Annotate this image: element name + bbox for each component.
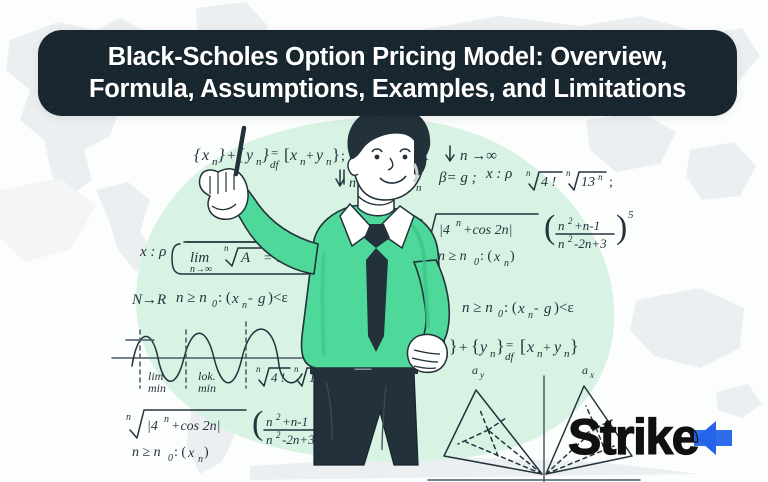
brand-logo[interactable]: Strike Strike Strike bbox=[566, 406, 746, 468]
svg-text:2: 2 bbox=[276, 430, 281, 440]
svg-text:n: n bbox=[224, 243, 229, 253]
svg-text:x : ρ: x : ρ bbox=[139, 244, 166, 260]
page-title-line-2: Formula, Assumptions, Examples, and Limi… bbox=[89, 75, 686, 103]
svg-text:}: } bbox=[332, 145, 340, 164]
svg-text:g: g bbox=[544, 301, 552, 317]
svg-text:=: = bbox=[506, 337, 513, 352]
svg-text:-: - bbox=[534, 301, 539, 316]
svg-text:n ≥ n: n ≥ n bbox=[462, 300, 493, 316]
svg-text:+n-1: +n-1 bbox=[574, 218, 600, 233]
svg-text:n: n bbox=[266, 414, 273, 429]
svg-text:4 !: 4 ! bbox=[271, 370, 285, 385]
svg-text:4 !: 4 ! bbox=[541, 175, 557, 190]
svg-text:0: 0 bbox=[474, 257, 479, 268]
svg-text:5: 5 bbox=[628, 209, 634, 221]
svg-text:n: n bbox=[266, 432, 273, 447]
svg-text:: (: : ( bbox=[218, 290, 231, 306]
svg-text:[: [ bbox=[520, 336, 526, 356]
svg-text:)<ε: )<ε bbox=[268, 290, 288, 306]
svg-text:;: ; bbox=[341, 149, 345, 164]
svg-text:}: } bbox=[262, 145, 269, 164]
svg-text:n: n bbox=[456, 218, 461, 229]
svg-text:x : ρ: x : ρ bbox=[485, 166, 512, 182]
svg-text:y: y bbox=[244, 147, 254, 164]
svg-text:|4: |4 bbox=[439, 223, 450, 238]
hero-illustration: { x n } + { y n } = df [ x n + y n bbox=[118, 120, 638, 465]
svg-text:): ) bbox=[204, 445, 209, 460]
svg-text:n→∞: n→∞ bbox=[190, 264, 212, 275]
svg-text:-2n+3: -2n+3 bbox=[574, 236, 607, 251]
trousers bbox=[314, 372, 418, 465]
svg-text:-: - bbox=[248, 291, 253, 306]
svg-text:: (: : ( bbox=[504, 300, 517, 316]
svg-text:n: n bbox=[126, 412, 131, 423]
svg-text:n: n bbox=[164, 414, 169, 425]
svg-text:y: y bbox=[478, 339, 488, 356]
brand-wordmark-outline: Strike bbox=[568, 409, 699, 465]
svg-text:y: y bbox=[479, 370, 484, 380]
svg-text:(: ( bbox=[252, 405, 263, 442]
svg-text:n: n bbox=[242, 300, 247, 311]
svg-text:|4: |4 bbox=[147, 419, 158, 434]
svg-text:{: { bbox=[194, 145, 201, 164]
svg-text:}: } bbox=[218, 145, 225, 164]
svg-text:): ) bbox=[616, 209, 627, 246]
svg-text:N→R: N→R bbox=[131, 292, 166, 308]
svg-text:x: x bbox=[589, 370, 594, 380]
svg-text:g: g bbox=[258, 291, 266, 307]
svg-text:-2n+3: -2n+3 bbox=[282, 432, 315, 447]
svg-text:x: x bbox=[201, 147, 209, 164]
svg-text:{: { bbox=[471, 336, 480, 356]
svg-text:n: n bbox=[198, 454, 203, 465]
svg-text:x: x bbox=[187, 446, 195, 461]
svg-text:;: ; bbox=[609, 175, 613, 190]
svg-text:n ≥ n: n ≥ n bbox=[438, 249, 467, 264]
svg-text:+: + bbox=[543, 341, 551, 356]
lowered-hand bbox=[407, 334, 447, 372]
svg-text:2: 2 bbox=[568, 216, 573, 226]
svg-text:}: } bbox=[449, 336, 458, 356]
svg-text:β= g ;: β= g ; bbox=[438, 170, 477, 186]
svg-text:a: a bbox=[582, 363, 588, 377]
svg-text:)<ε: )<ε bbox=[554, 300, 574, 316]
svg-text:13: 13 bbox=[581, 175, 595, 190]
svg-text:: (: : ( bbox=[480, 249, 492, 264]
svg-text:}: } bbox=[570, 336, 579, 356]
svg-text:y: y bbox=[314, 147, 324, 164]
svg-text:A: A bbox=[240, 250, 251, 266]
page-title: Black-Scholes Option Pricing Model: Over… bbox=[71, 41, 704, 105]
svg-text:2: 2 bbox=[276, 412, 281, 422]
svg-text:min: min bbox=[198, 381, 216, 395]
page-canvas: Black-Scholes Option Pricing Model: Over… bbox=[0, 0, 768, 482]
svg-text:n: n bbox=[504, 258, 509, 269]
svg-text:0: 0 bbox=[212, 299, 217, 310]
svg-text:n ≥ n: n ≥ n bbox=[132, 445, 161, 460]
svg-text:+: + bbox=[306, 149, 314, 164]
svg-text:x: x bbox=[231, 291, 239, 307]
svg-text:=: = bbox=[271, 145, 278, 160]
svg-text:(: ( bbox=[544, 209, 555, 246]
svg-text:}: } bbox=[496, 336, 505, 356]
svg-text:0: 0 bbox=[168, 453, 173, 464]
svg-text:x: x bbox=[289, 147, 297, 164]
svg-text:n: n bbox=[566, 168, 571, 178]
svg-text:x: x bbox=[493, 250, 501, 265]
svg-text:+cos 2n|: +cos 2n| bbox=[171, 419, 220, 434]
left-arrow-icon bbox=[694, 421, 732, 455]
svg-text:n ≥ n: n ≥ n bbox=[176, 290, 207, 306]
svg-text:: (: : ( bbox=[174, 445, 186, 460]
svg-text:): ) bbox=[510, 249, 515, 264]
svg-text:2: 2 bbox=[568, 234, 573, 244]
svg-text:+: + bbox=[459, 340, 467, 356]
title-banner: Black-Scholes Option Pricing Model: Over… bbox=[38, 30, 737, 116]
svg-text:+n-1: +n-1 bbox=[282, 414, 308, 429]
svg-text:0: 0 bbox=[498, 309, 503, 320]
svg-text:y: y bbox=[552, 339, 562, 356]
svg-text:n: n bbox=[526, 168, 531, 178]
svg-text:n: n bbox=[294, 364, 299, 374]
svg-text:n →∞: n →∞ bbox=[460, 148, 497, 164]
svg-text:n: n bbox=[598, 172, 603, 182]
page-title-line-1: Black-Scholes Option Pricing Model: Over… bbox=[108, 43, 667, 71]
svg-text:x: x bbox=[526, 339, 534, 356]
svg-text:n: n bbox=[256, 364, 261, 374]
svg-text:a: a bbox=[472, 363, 478, 377]
svg-text:n: n bbox=[558, 236, 565, 251]
svg-text:+: + bbox=[227, 148, 235, 164]
svg-text:+cos 2n|: +cos 2n| bbox=[463, 223, 512, 238]
svg-text:min: min bbox=[148, 381, 166, 395]
svg-text:x: x bbox=[517, 301, 525, 317]
svg-text:n: n bbox=[558, 218, 565, 233]
svg-text:n: n bbox=[528, 310, 533, 321]
